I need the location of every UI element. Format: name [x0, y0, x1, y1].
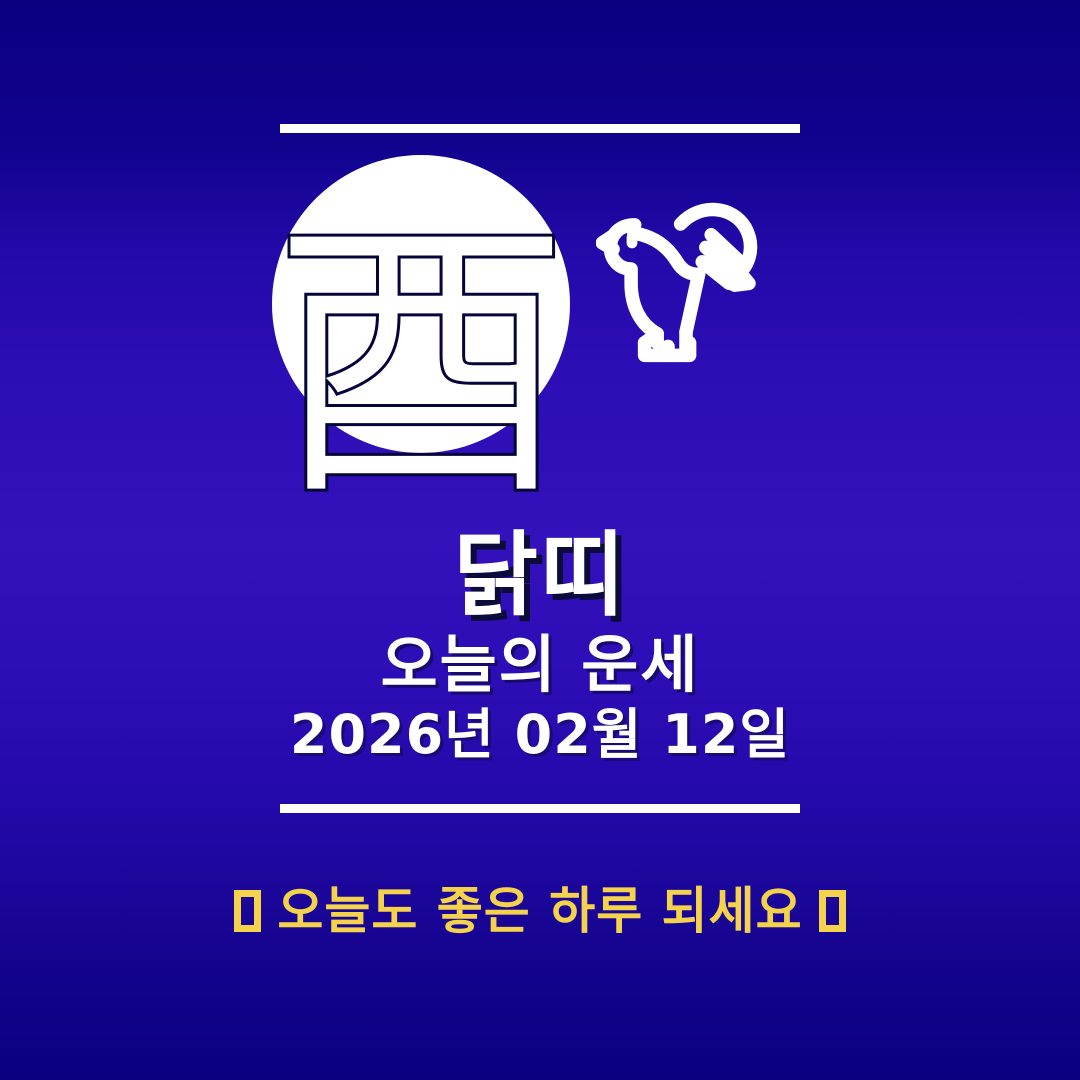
fortune-date: 2026년 02월 12일 — [0, 704, 1080, 766]
fortune-subtitle: 오늘의 운세 — [0, 630, 1080, 700]
headline-block: 닭띠 오늘의 운세 2026년 02월 12일 — [0, 524, 1080, 766]
greeting-row: 오늘도 좋은 하루 되세요 — [0, 882, 1080, 940]
bottom-divider — [280, 804, 800, 813]
rooster-icon — [596, 188, 776, 368]
trailing-missing-glyph-icon — [819, 890, 846, 932]
greeting-text: 오늘도 좋은 하루 되세요 — [277, 882, 802, 940]
fortune-card: 酉 — [0, 0, 1080, 1080]
zodiac-hanja-character: 酉 — [266, 214, 576, 544]
zodiac-title: 닭띠 — [0, 524, 1080, 628]
top-divider — [280, 124, 800, 133]
zodiac-emblem: 酉 — [0, 150, 1080, 520]
leading-missing-glyph-icon — [234, 890, 261, 932]
